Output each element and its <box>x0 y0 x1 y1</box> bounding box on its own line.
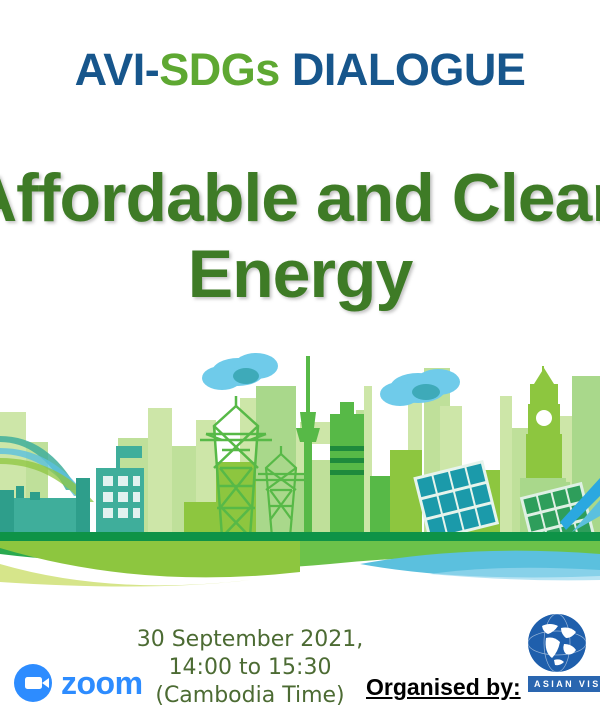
event-poster: AVI-SDGs DIALOGUE Affordable and Clean E… <box>0 0 600 720</box>
organised-by-label: Organised by: <box>366 674 521 701</box>
event-datetime: 30 September 2021, 14:00 to 15:30 (Cambo… <box>120 626 380 710</box>
series-title-segment-dialogue: DIALOGUE <box>280 44 526 95</box>
organiser-logo: ASIAN VISION INSTITUTE <box>528 614 600 706</box>
page-title: Affordable and Clean Energy <box>0 160 600 312</box>
cloud-cluster-left <box>202 353 278 390</box>
video-camera-icon <box>14 664 52 702</box>
main-title-line-2: Energy <box>0 236 600 312</box>
banded-green-tower <box>330 402 364 537</box>
main-title-line-1: Affordable and Clean <box>0 160 600 236</box>
series-title-segment-avi: AVI- <box>75 44 160 95</box>
event-timezone: (Cambodia Time) <box>120 682 380 710</box>
poster-footer: zoom 30 September 2021, 14:00 to 15:30 (… <box>0 612 600 720</box>
green-city-illustration <box>0 350 600 595</box>
event-date: 30 September 2021, <box>120 626 380 654</box>
event-time: 14:00 to 15:30 <box>120 654 380 682</box>
organiser-name-banner: ASIAN VISION INSTITUTE <box>528 676 600 692</box>
event-series-title: AVI-SDGs DIALOGUE <box>0 47 600 92</box>
globe-icon <box>528 614 586 672</box>
series-title-segment-sdgs: SDGs <box>159 44 280 95</box>
